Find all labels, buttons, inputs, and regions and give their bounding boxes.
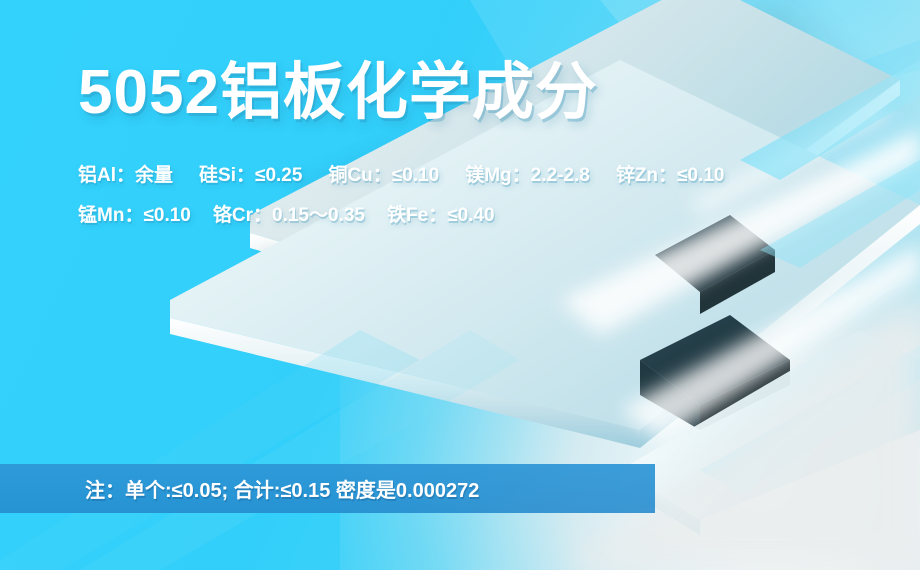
note-bar: 注：单个:≤0.05; 合计:≤0.15 密度是0.000272 [0, 464, 655, 513]
spec-value-mg: 2.2-2.8 [531, 165, 590, 186]
spec-item-si: 硅Si：≤0.25 [199, 160, 302, 187]
note-text: 注：单个:≤0.05; 合计:≤0.15 密度是0.000272 [85, 474, 479, 503]
spec-value-cr: 0.15～0.35 [272, 205, 365, 226]
spec-item-mg: 镁Mg：2.2-2.8 [465, 160, 590, 187]
spec-sep-cu: ： [373, 165, 392, 186]
spec-element-cr: 铬Cr [213, 205, 253, 226]
spec-item-zn: 锌Zn：≤0.10 [616, 160, 725, 187]
spec-element-fe: 铁Fe [387, 205, 428, 226]
spec-sep-mg: ： [512, 165, 531, 186]
spec-item-al: 铝Al：余量 [78, 160, 173, 187]
spec-value-si: ≤0.25 [255, 165, 302, 186]
spec-sep-zn: ： [658, 165, 677, 186]
spec-element-al: 铝Al [78, 165, 116, 186]
spec-value-al: 余量 [135, 165, 173, 186]
page-title: 5052铝板化学成分 [78, 62, 598, 124]
spec-element-mg: 镁Mg [465, 165, 511, 186]
spec-sep-cr: ： [253, 205, 272, 226]
spec-sep-mn: ： [124, 205, 143, 226]
spec-item-cr: 铬Cr：0.15～0.35 [213, 200, 365, 227]
spec-sep-al: ： [116, 165, 135, 186]
spec-element-cu: 铜Cu [328, 165, 372, 186]
spec-value-fe: ≤0.40 [447, 205, 494, 226]
composition-row-1: 铝Al：余量硅Si：≤0.25铜Cu：≤0.10镁Mg：2.2-2.8锌Zn：≤… [78, 160, 724, 187]
spec-value-zn: ≤0.10 [677, 165, 724, 186]
spec-item-cu: 铜Cu：≤0.10 [328, 160, 439, 187]
composition-row-2: 锰Mn：≤0.10铬Cr：0.15～0.35铁Fe：≤0.40 [78, 200, 495, 227]
promotional-banner: 5052铝板化学成分 铝Al：余量硅Si：≤0.25铜Cu：≤0.10镁Mg：2… [0, 0, 920, 570]
spec-element-mn: 锰Mn [78, 205, 124, 226]
spec-sep-fe: ： [428, 205, 447, 226]
spec-value-mn: ≤0.10 [143, 205, 190, 226]
spec-sep-si: ： [236, 165, 255, 186]
spec-item-fe: 铁Fe：≤0.40 [387, 200, 495, 227]
spec-element-zn: 锌Zn [616, 165, 658, 186]
spec-item-mn: 锰Mn：≤0.10 [78, 200, 191, 227]
spec-value-cu: ≤0.10 [392, 165, 439, 186]
plate-left-diagonals [0, 330, 520, 570]
spec-element-si: 硅Si [199, 165, 236, 186]
